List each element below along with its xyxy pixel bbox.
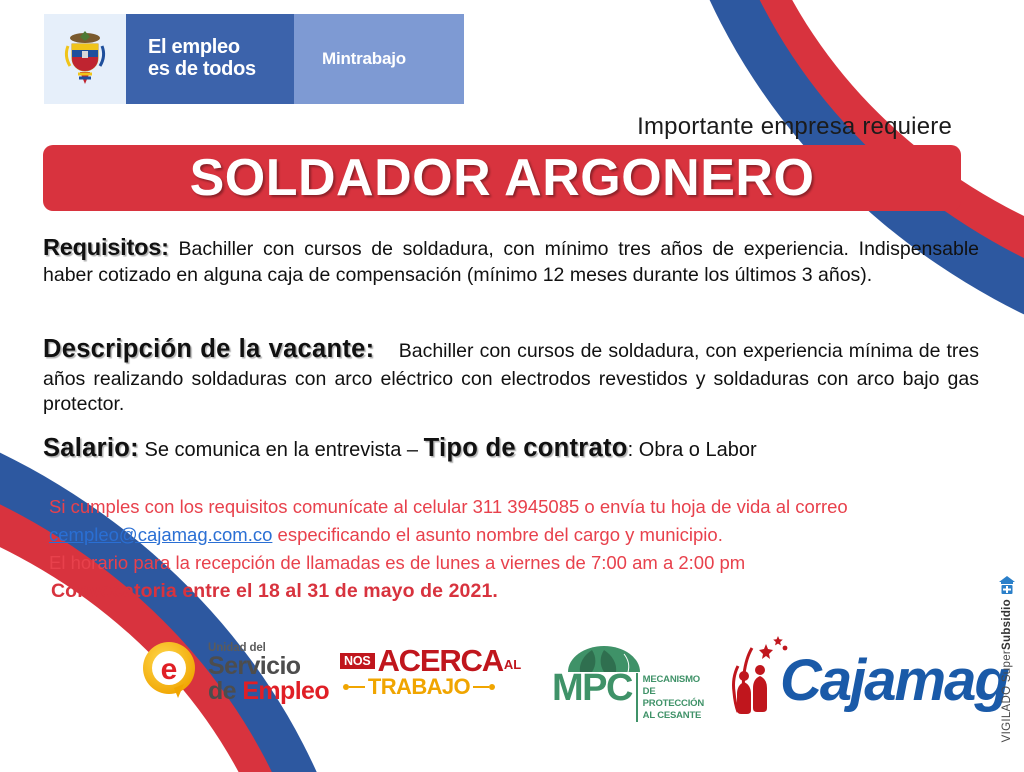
government-header-bar: El empleo es de todos Mintrabajo [44,14,464,104]
contact-line-1: Si cumples con los requisitos comunícate… [49,493,979,521]
acerca-al-label: AL [504,657,521,672]
supersubsidio-icon [998,575,1016,595]
tagline: Importante empresa requiere [637,113,952,141]
gov-slogan-line2: es de todos [148,59,256,81]
salary-label: Salario [43,434,130,462]
servicio-de-empleo-wordmark: Unidad del Servicio de Empleo [208,642,329,704]
sde-line-3: de Empleo [208,679,329,704]
acerca-top-row: NOS ACERCA AL [340,646,498,675]
cajamag-logo: Cajamag [722,632,990,718]
job-posting-flyer: El empleo es de todos Mintrabajo Importa… [0,0,1024,772]
contact-line-2-rest: especificando el asunto nombre del cargo… [272,524,722,545]
ministry-panel: Mintrabajo [294,14,464,104]
acerca-wordmark: ACERCA [378,646,503,675]
call-period-text: Convocatoria entre el 18 al 31 de mayo d… [51,580,498,603]
vigilado-prefix: VIGILADO Super [1001,650,1013,742]
mpc-subtitle: MECANISMO DE PROTECCIÓN AL CESANTE [643,671,705,722]
vigilado-bold: Subsidio [1001,599,1013,650]
cajamag-wordmark: Cajamag [780,652,1008,710]
svg-text:e: e [161,653,178,686]
gov-slogan-panel: El empleo es de todos [126,14,294,104]
salary-colon: : [130,434,139,462]
requirements-colon: : [161,234,169,260]
mpc-subtitle-line-1: MECANISMO DE [643,674,705,698]
salary-value: Se comunica en la entrevista – [139,439,424,461]
contact-instructions: Si cumples con los requisitos comunícate… [49,493,979,576]
vigilado-supersubsidio: VIGILADO SuperSubsidio [992,575,1022,742]
salary-section: Salario: Se comunica en la entrevista – … [43,432,979,466]
sde-line-3-prefix: de [208,677,242,705]
mpc-letters: MPC [552,671,632,706]
job-title-banner: SOLDADOR ARGONERO [43,145,961,211]
sde-line-3-accent: Empleo [242,677,329,705]
contact-line-2: cempleo@cajamag.com.co especificando el … [49,521,979,549]
contract-type-colon: : [628,439,639,461]
sde-line-2: Servicio [208,654,329,679]
acerca-bottom-row: TRABAJO [340,676,498,698]
contract-type-value: Obra o Labor [639,439,757,461]
mpc-subtitle-line-3: AL CESANTE [643,710,705,722]
requirements-section: Requisitos: Bachiller con cursos de sold… [43,232,979,289]
acerca-right-dot-icon [489,684,495,690]
acerca-trabajo-label: TRABAJO [368,676,470,698]
requirements-text: Bachiller con cursos de soldadura, con m… [43,238,979,286]
requirements-label: Requisitos [43,234,161,260]
colombia-coat-of-arms-icon [44,14,126,104]
servicio-de-empleo-logo: e Unidad del Servicio de Empleo [138,636,338,712]
e-pin-icon: e [138,640,200,702]
contact-email-link[interactable]: cempleo@cajamag.com.co [49,524,272,545]
acerca-nos-badge: NOS [340,653,375,669]
acerca-right-rule-icon [473,686,489,688]
nos-acerca-al-trabajo-logo: NOS ACERCA AL TRABAJO [340,646,498,706]
vacancy-description-label: Descripción de la vacante: [43,335,374,363]
bottom-left-red-arc-decoration [0,435,325,772]
vacancy-description-section: Descripción de la vacante: Bachiller con… [43,333,979,418]
mpc-subtitle-line-2: PROTECCIÓN [643,698,705,710]
vigilado-text: VIGILADO SuperSubsidio [1001,599,1013,742]
contact-line-3: El horario para la recepción de llamadas… [49,549,979,577]
contract-type-label: Tipo de contrato [424,434,628,462]
job-title: SOLDADOR ARGONERO [190,148,815,208]
gov-slogan-line1: El empleo [148,37,256,59]
mpc-logo: MPC MECANISMO DE PROTECCIÓN AL CESANTE [552,644,692,714]
mpc-wordmark-row: MPC MECANISMO DE PROTECCIÓN AL CESANTE [552,671,704,722]
ministry-label: Mintrabajo [322,49,406,69]
acerca-left-rule-icon [349,686,365,688]
mpc-divider [636,673,638,722]
